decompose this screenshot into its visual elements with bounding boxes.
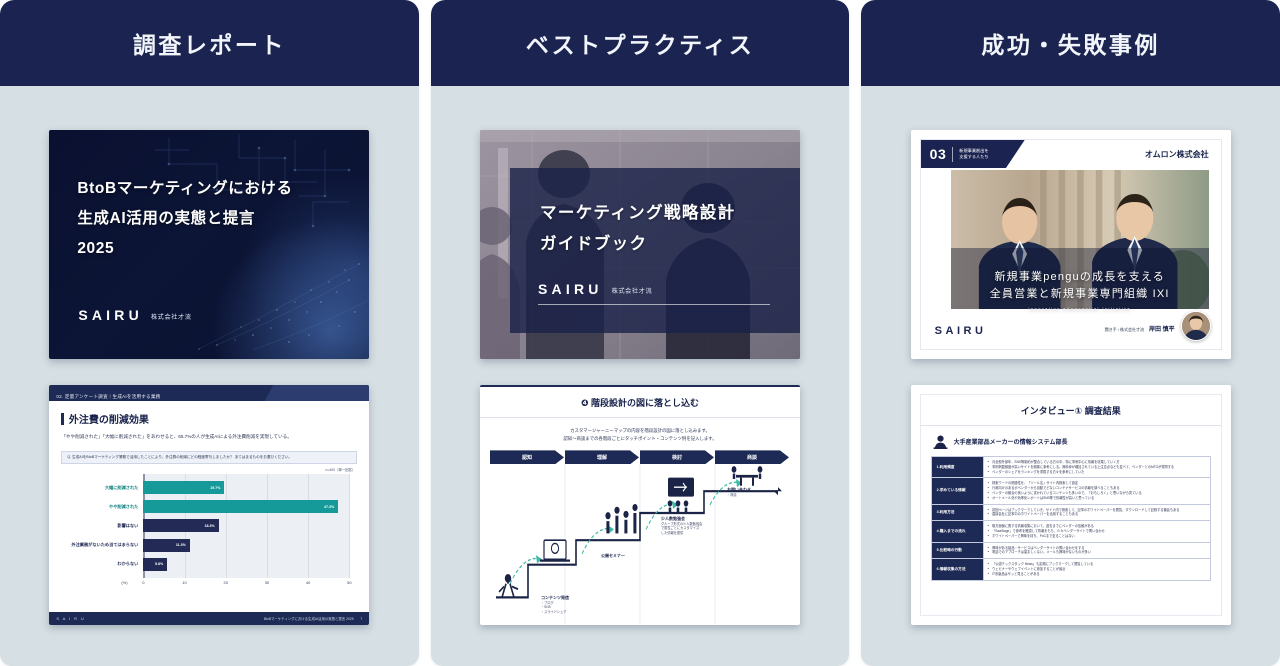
screen-presentation-icon <box>668 478 694 513</box>
chart-bar-label: わからない <box>117 561 138 567</box>
slide-headline-line: 全員営業と新規事業専門組織 IXI <box>951 286 1209 303</box>
avatar-svg <box>1182 312 1210 340</box>
table-row: 4.購入までの流れ 取方面倒に関する情報収集において、過去までにベンダーの信頼が… <box>932 521 1210 542</box>
step-label-2: 公開セミナー <box>601 553 625 559</box>
chart-bar: 18.3% <box>143 519 218 532</box>
card-body-case-studies: 03 新規事業創出を 支援する人たち オムロン株式会社 新規事業penguの成長… <box>861 86 1280 666</box>
step-bullet: ・商談 <box>727 493 751 498</box>
chart-x-tick: 0 <box>142 580 144 585</box>
chart-bar: 47.3% <box>143 500 338 513</box>
slide-frame: 03 新規事業創出を 支援する人たち オムロン株式会社 新規事業penguの成長… <box>920 139 1222 350</box>
divider <box>952 147 953 162</box>
table-row: 6.情報収集の方法 「公認テックスタック News」も定期にブックマークして閲覧… <box>932 559 1210 580</box>
table-bullet: オートメール化や効率化レポートはSNS等で情報性が高いと思っている <box>988 496 1206 501</box>
card-survey-report[interactable]: 調査レポート <box>0 0 419 666</box>
table-row-label: 6.情報収集の方法 <box>932 559 984 579</box>
step-bullet: ・スライドシェア <box>541 610 569 615</box>
slide-thumbnail-report-cover[interactable]: BtoBマーケティングにおける 生成AI活用の実態と提言 2025 SAIRU … <box>49 130 369 359</box>
chart-x-tick: 20 <box>223 580 227 585</box>
slide-title: インタビュー① 調査結果 <box>921 395 1221 426</box>
slide-thumbnail-interview-table[interactable]: インタビュー① 調査結果 大手産業部品メーカーの情報システム部長 <box>911 385 1231 625</box>
slide-lead-text: カスタマージャーニーマップの内容を階段設計の図に落とし込みます。 認知〜商談まで… <box>480 418 800 450</box>
chart-x-tick: 10 <box>182 580 186 585</box>
slide-footer: S A I R U BtoBマーケティングにおける生成AI活用の実態と提言 20… <box>49 612 369 625</box>
logo-subtext: 株式会社才流 <box>612 286 653 298</box>
logo-text: SAIRU <box>78 307 143 323</box>
staircase-diagram: コンテンツ発信 ・ブログ ・SNS ・スライドシェア 公開セミナー 少人数勉強会… <box>490 464 790 625</box>
chart-axis-unit: (%) <box>121 580 127 585</box>
step-label-3: 少人数勉強会 グループ形式の少人数勉強会 で属性ごとにカスタマイズ した情報を提… <box>661 516 702 536</box>
step-label-1: コンテンツ発信 ・ブログ ・SNS ・スライドシェア <box>541 595 569 615</box>
meeting-table-icon <box>732 467 763 487</box>
chart-bar-label: 影響はない <box>117 523 138 529</box>
interviewer-role: 聞き手 / 株式会社才流 <box>1105 327 1144 333</box>
table-row-label: 4.購入までの流れ <box>932 521 984 541</box>
slide-title-line: マーケティング戦略設計 <box>540 198 736 229</box>
card-header-title: 調査レポート <box>133 26 286 60</box>
person-icon <box>933 434 948 449</box>
step-bullet: した情報を提供 <box>661 531 702 536</box>
slide-title: BtoBマーケティングにおける 生成AI活用の実態と提言 2025 <box>77 174 292 265</box>
section-badge-text: 新規事業創出を 支援する人たち <box>959 148 988 161</box>
table-bullet: IT系製品はザッと見ることがある <box>988 572 1206 577</box>
step-title: コンテンツ発信 <box>541 595 569 601</box>
chart-bar: 5.8% <box>143 558 167 571</box>
table-bullet: ベンダーのシェアをランキングを重視する方々を参考にしていた <box>988 470 1206 475</box>
section-number-badge: 03 新規事業創出を 支援する人たち <box>921 140 1025 168</box>
step-title: 公開セミナー <box>601 553 625 559</box>
interview-table: 1.利用頻度 月全般外部年、SNS等制約が整合している方の中、特に事例中心に情報… <box>931 456 1211 581</box>
table-row-label: 1.利用頻度 <box>932 457 984 477</box>
company-name: オムロン株式会社 <box>1145 149 1209 160</box>
chart-bars: 大幅に削減された 19.7% やや削減された 47.3% 影響はない 18.3% <box>143 478 349 574</box>
chart-bar-value: 18.3% <box>205 524 215 528</box>
stage-chevron: 認知 <box>490 450 564 464</box>
table-row-content: 興味がある製品・サービスはベンダーサイトの問い合わせをする 電話でのアプローチは… <box>984 543 1210 559</box>
table-row: 5.比較時の行動 興味がある製品・サービスはベンダーサイトの問い合わせをする 電… <box>932 543 1210 560</box>
chart-bar-row: 影響はない 18.3% <box>143 519 349 532</box>
chart-bar: 11.3% <box>143 539 190 552</box>
card-best-practices[interactable]: ベストプラクティス <box>431 0 850 666</box>
step-label-4: お問い合わせ ・商談 <box>727 487 751 498</box>
chart-bar-value: 19.7% <box>210 486 220 490</box>
section-number: 03 <box>930 146 947 162</box>
table-bullet: ホワイトペーパーで興味を持ち、PoCまで至ることはない <box>988 534 1206 539</box>
slide-content: 外注費の削減効果 「やや削減された」「大幅に削減された」をあわせると、65.7%… <box>49 401 369 612</box>
slide-headline-line: 新規事業penguの成長を支える <box>951 269 1209 286</box>
interviewer-credit: 聞き手 / 株式会社才流 岸田 慎平 <box>1105 324 1175 333</box>
chart-bar-value: 5.8% <box>155 562 163 566</box>
logo-subtext: 株式会社才流 <box>151 312 192 324</box>
card-header-survey-report: 調査レポート <box>0 0 419 86</box>
card-header-best-practices: ベストプラクティス <box>431 0 850 86</box>
chart-bar-row: 大幅に削減された 19.7% <box>143 481 349 494</box>
divider <box>538 304 770 305</box>
table-row-label: 5.比較時の行動 <box>932 543 984 559</box>
chart-bar-label: 外注業務がないため当てはまらない <box>71 542 138 548</box>
stage-chevron: 理解 <box>565 450 639 464</box>
table-row-content: 「公認テックスタック News」も定期にブックマークして閲覧している ウェビナー… <box>984 559 1210 579</box>
table-row: 3.利用方法 初回ページはブックマークしていき、サイト内で検索して、記事のホワイ… <box>932 505 1210 522</box>
slide-lead-line: 認知〜商談までの各階段ごとにタッチポイント・コンテンツ例を記入します。 <box>504 435 776 443</box>
card-case-studies[interactable]: 成功・失敗事例 <box>861 0 1280 666</box>
table-row-content: 初回ページはブックマークしていき、サイト内で検索して、記事のホワイトペーパーを閲… <box>984 505 1210 521</box>
chart-bar-row: 外注業務がないため当てはまらない 11.3% <box>143 539 349 552</box>
sairu-logo: SAIRU 株式会社才流 <box>78 307 191 323</box>
card-header-title: ベストプラクティス <box>526 26 755 60</box>
table-row-content: 取方面倒に関する情報収集において、過去までにベンダーの信頼がある 「SaaSta… <box>984 521 1210 541</box>
table-row-label: 3.利用方法 <box>932 505 984 521</box>
table-row-label: 2.求めている情報 <box>932 478 984 503</box>
slide-thumbnail-report-chart[interactable]: 02. 定量アンケート調査｜生成AIを活用する業務 外注費の削減効果 「やや削減… <box>49 385 369 625</box>
chart-bar-label: やや削減された <box>109 504 138 510</box>
chart-bar-row: わからない 5.8% <box>143 558 349 571</box>
slide-frame: インタビュー① 調査結果 大手産業部品メーカーの情報システム部長 <box>920 394 1222 616</box>
card-body-best-practices: マーケティング戦略設計 ガイドブック SAIRU 株式会社才流 ❹ 階段設計の図… <box>431 86 850 666</box>
bar-chart: 大幅に削減された 19.7% やや削減された 47.3% 影響はない 18.3% <box>143 474 349 592</box>
chart-heading: 外注費の削減効果 <box>61 411 357 426</box>
laptop-icon <box>540 541 570 561</box>
stage-chevrons: 認知 理解 検討 商談 <box>490 450 790 464</box>
slide-subheadline: Innovation eXponential Initiative <box>951 306 1209 311</box>
card-body-survey-report: BtoBマーケティングにおける 生成AI活用の実態と提言 2025 SAIRU … <box>0 86 419 666</box>
slide-topbar-label: 02. 定量アンケート調査｜生成AIを活用する業務 <box>49 394 160 399</box>
table-row: 2.求めている情報 検索ワードの関連性を、「ツール名」サイト内検索して設定 行政… <box>932 478 1210 504</box>
card-header-title: 成功・失敗事例 <box>981 26 1160 60</box>
slide-thumbnail-interview-cover[interactable]: 03 新規事業創出を 支援する人たち オムロン株式会社 新規事業penguの成長… <box>911 130 1231 359</box>
slide-lead-line: カスタマージャーニーマップの内容を階段設計の図に落とし込みます。 <box>504 427 776 435</box>
table-bullet: 電話でのアプローチは望ましくない。メールも興味がないものが多い <box>988 550 1206 555</box>
chart-bar-row: やや削減された 47.3% <box>143 500 349 513</box>
chart-bar: 19.7% <box>143 481 224 494</box>
logo-text: SAIRU <box>538 281 603 297</box>
section-badge-line: 支援する人たち <box>959 154 988 160</box>
slide-title-line: BtoBマーケティングにおける <box>77 174 292 204</box>
chart-question: Q. 生成AIをBtoBマーケティング業務で活用したことにより、外注費の削減にど… <box>61 451 357 464</box>
chart-x-tick: 40 <box>306 580 310 585</box>
slide-thumbnail-guide-stairs[interactable]: ❹ 階段設計の図に落とし込む カスタマージャーニーマップの内容を階段設計の図に落… <box>480 385 800 625</box>
slide-title: マーケティング戦略設計 ガイドブック <box>540 198 736 259</box>
slide-title-line: 2025 <box>77 234 292 264</box>
slide-footer-meta: BtoBマーケティングにおける生成AI活用の実態と提言 2025 7 <box>264 616 363 621</box>
chart-lead-text: 「やや削減された」「大幅に削減された」をあわせると、65.7%の人が生成AIによ… <box>61 434 357 441</box>
sairu-logo: SAIRU 株式会社才流 <box>538 281 652 297</box>
step-title: お問い合わせ <box>727 487 751 493</box>
chart-x-axis: (%) 01020304050 <box>143 578 349 592</box>
interviewer-name: 岸田 慎平 <box>1149 324 1175 333</box>
slide-title-line: 生成AI活用の実態と提言 <box>77 204 292 234</box>
chart-sample-size: n=400（単一回答） <box>61 467 355 472</box>
persona-row: 大手産業部品メーカーの情報システム部長 <box>921 426 1221 456</box>
table-bullet: 直接会社に記事中のホワイトペーパーを活用することもある <box>988 512 1206 517</box>
slide-title: ❹ 階段設計の図に落とし込む <box>480 387 800 418</box>
sairu-logo: SAIRU <box>935 325 987 337</box>
table-row: 1.利用頻度 月全般外部年、SNS等制約が整合している方の中、特に事例中心に情報… <box>932 457 1210 478</box>
slide-footer-logo: S A I R U <box>56 616 85 621</box>
chart-x-tick: 50 <box>347 580 351 585</box>
stage-chevron: 検討 <box>640 450 714 464</box>
slide-thumbnail-guide-cover[interactable]: マーケティング戦略設計 ガイドブック SAIRU 株式会社才流 <box>480 130 800 359</box>
chart-bar-value: 47.3% <box>324 505 334 509</box>
chart-bar-value: 11.3% <box>176 543 186 547</box>
card-board: 調査レポート <box>0 0 1280 666</box>
stage-chevron: 商談 <box>715 450 789 464</box>
card-header-case-studies: 成功・失敗事例 <box>861 0 1280 86</box>
table-row-content: 月全般外部年、SNS等制約が整合している方の中、特に事例中心に情報を収集していく… <box>984 457 1210 477</box>
slide-topbar: 02. 定量アンケート調査｜生成AIを活用する業務 <box>49 385 369 401</box>
persona-label: 大手産業部品メーカーの情報システム部長 <box>954 437 1068 446</box>
table-row-content: 検索ワードの関連性を、「ツール名」サイト内検索して設定 行政向けのあるボベンダー… <box>984 478 1210 503</box>
slide-title-line: ガイドブック <box>540 229 736 260</box>
chart-x-tick: 30 <box>265 580 269 585</box>
slide-headline: 新規事業penguの成長を支える 全員営業と新規事業専門組織 IXI <box>951 269 1209 303</box>
chart-bar-label: 大幅に削減された <box>105 485 139 491</box>
avatar <box>1181 311 1211 341</box>
